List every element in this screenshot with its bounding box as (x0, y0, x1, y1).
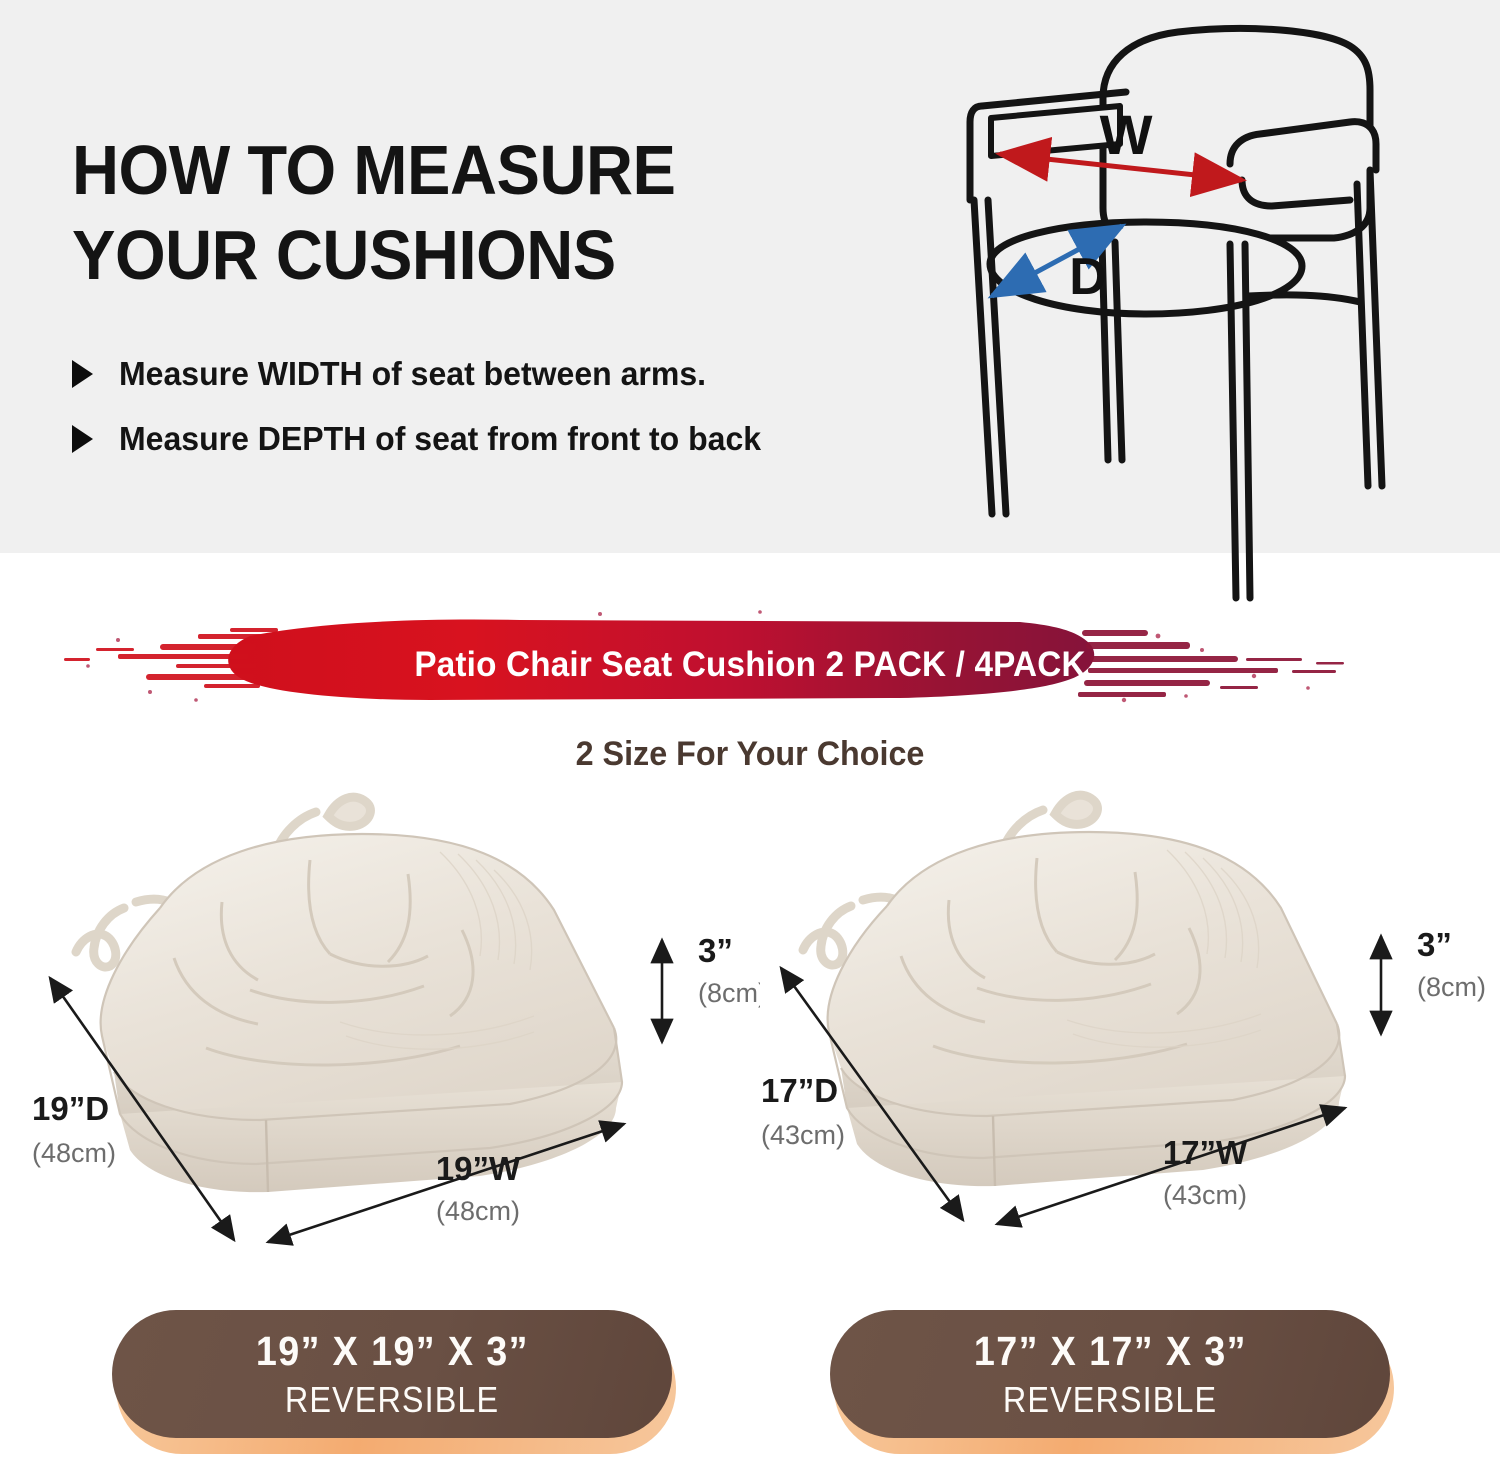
measure-instruction-list: Measure WIDTH of seat between arms. Meas… (72, 355, 952, 485)
width-value-small: 17”W (1163, 1134, 1248, 1171)
badge-reversible-label: REVERSIBLE (1003, 1379, 1217, 1421)
instruction-depth: Measure DEPTH of seat from front to back (119, 420, 761, 459)
width-dim-label: W (1100, 103, 1153, 166)
banner-stroke-body (228, 620, 1094, 700)
cushion-panel-large: 19”D (48cm) 19”W (48cm) 3” (8cm) (10, 790, 760, 1260)
depth-metric-large: (48cm) (32, 1138, 116, 1168)
depth-metric-small: (43cm) (761, 1120, 845, 1150)
cushion-panel-small: 17”D (43cm) 17”W (43cm) 3” (8cm) (735, 790, 1485, 1260)
infographic-page: HOW TO MEASUREYOUR CUSHIONS Measure WIDT… (0, 0, 1500, 1460)
page-title: HOW TO MEASUREYOUR CUSHIONS (72, 128, 844, 299)
height-value-small: 3” (1417, 926, 1452, 963)
chair-arm-left-post (970, 106, 982, 200)
badge-body[interactable]: 19” X 19” X 3” REVERSIBLE (112, 1310, 672, 1438)
badge-size-label: 19” X 19” X 3” (255, 1328, 528, 1375)
cushion-top-surface (101, 834, 617, 1120)
depth-value-large: 19”D (32, 1090, 109, 1127)
badge-reversible-label: REVERSIBLE (285, 1379, 499, 1421)
page-title-line-2: YOUR CUSHIONS (72, 216, 616, 294)
height-metric-small: (8cm) (1417, 972, 1485, 1002)
width-value-large: 19”W (436, 1150, 521, 1187)
chair-seat (990, 222, 1302, 314)
width-metric-small: (43cm) (1163, 1180, 1247, 1210)
chair-leg-back-right (1370, 170, 1382, 486)
banner-brush-svg (0, 600, 1500, 730)
badge-size-label: 17” X 17” X 3” (973, 1328, 1246, 1375)
size-badge-small[interactable]: 17” X 17” X 3” REVERSIBLE (830, 1310, 1390, 1445)
small-cushion-svg: 17”D (43cm) 17”W (43cm) 3” (8cm) (735, 790, 1485, 1260)
chair-illustration-svg: W D (930, 0, 1410, 614)
size-badge-large[interactable]: 19” X 19” X 3” REVERSIBLE (112, 1310, 672, 1445)
width-metric-large: (48cm) (436, 1196, 520, 1226)
height-value-large: 3” (698, 932, 733, 969)
chair-measurement-diagram: W D (930, 0, 1410, 614)
cushion-top-surface (828, 832, 1340, 1116)
list-item: Measure DEPTH of seat from front to back (72, 420, 952, 459)
list-item: Measure WIDTH of seat between arms. (72, 355, 952, 394)
depth-value-small: 17”D (761, 1072, 838, 1109)
banner-left-frays (64, 628, 278, 688)
size-choice-subtitle: 2 Size For Your Choice (38, 735, 1463, 774)
depth-dim-label: D (1069, 248, 1107, 306)
banner-right-frays (1078, 630, 1344, 697)
triangle-bullet-icon (72, 360, 93, 388)
large-cushion-svg: 19”D (48cm) 19”W (48cm) 3” (8cm) (10, 790, 760, 1260)
hero-heading-block: HOW TO MEASUREYOUR CUSHIONS (72, 128, 902, 299)
triangle-bullet-icon (72, 425, 93, 453)
page-title-line-1: HOW TO MEASURE (72, 131, 676, 209)
badge-body[interactable]: 17” X 17” X 3” REVERSIBLE (830, 1310, 1390, 1438)
product-banner (0, 600, 1500, 730)
instruction-width: Measure WIDTH of seat between arms. (119, 355, 706, 394)
